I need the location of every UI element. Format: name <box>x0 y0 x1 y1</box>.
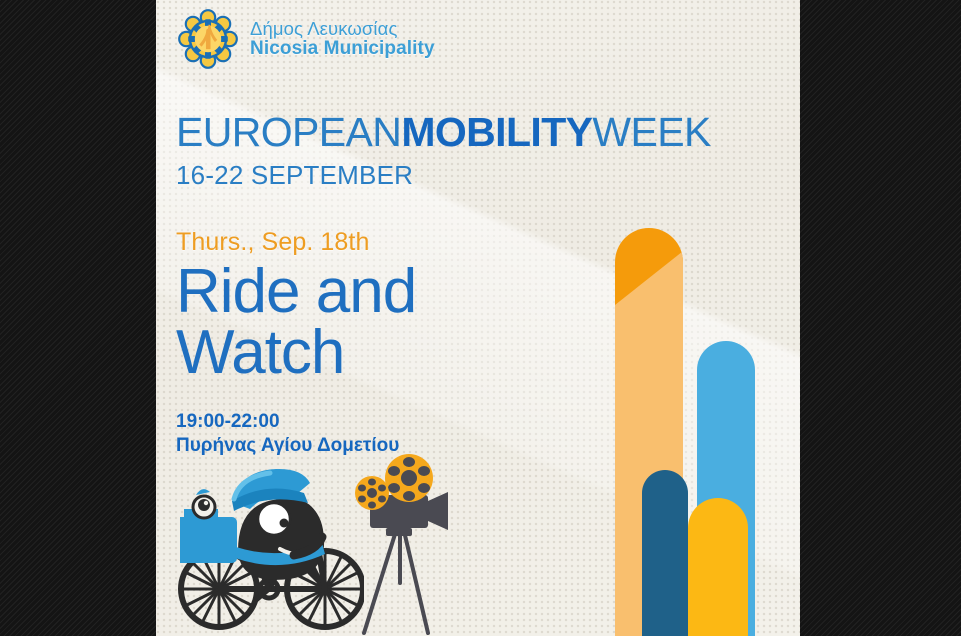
cyclist-mascot-icon <box>174 455 364 636</box>
left-dark-border <box>0 0 156 636</box>
campaign-title-mobility: MOBILITY <box>401 109 592 155</box>
film-camera-tripod-icon <box>352 443 462 636</box>
brand-name-english: Nicosia Municipality <box>250 39 435 60</box>
event-time: 19:00-22:00 <box>176 410 416 435</box>
brand-name-greek: Δήμος Λευκωσίας <box>250 19 435 39</box>
campaign-title-european: EUROPEAN <box>176 109 401 155</box>
nicosia-municipality-emblem-icon <box>178 9 238 69</box>
event-date: Thurs., Sep. 18th <box>176 228 416 257</box>
event-title-line-1: Ride and <box>176 261 416 322</box>
poster-canvas: Δήμος Λευκωσίας Nicosia Municipality EUR… <box>156 0 800 636</box>
brand-header: Δήμος Λευκωσίας Nicosia Municipality <box>178 9 435 69</box>
brand-text: Δήμος Λευκωσίας Nicosia Municipality <box>250 19 435 59</box>
campaign-title: EUROPEANMOBILITYWEEK <box>176 112 711 154</box>
event-title-line-2: Watch <box>176 322 416 383</box>
campaign-title-week: WEEK <box>592 109 710 155</box>
event-details-block: Thurs., Sep. 18th Ride and Watch 19:00-2… <box>176 228 416 459</box>
poster-stage: Δήμος Λευκωσίας Nicosia Municipality EUR… <box>0 0 961 636</box>
event-venue: Πυρήνας Αγίου Δομετίου <box>176 434 416 459</box>
campaign-dates: 16-22 SEPTEMBER <box>176 160 711 191</box>
campaign-title-block: EUROPEANMOBILITYWEEK 16-22 SEPTEMBER <box>176 112 711 191</box>
event-title: Ride and Watch <box>176 261 416 384</box>
right-dark-border <box>800 0 961 636</box>
